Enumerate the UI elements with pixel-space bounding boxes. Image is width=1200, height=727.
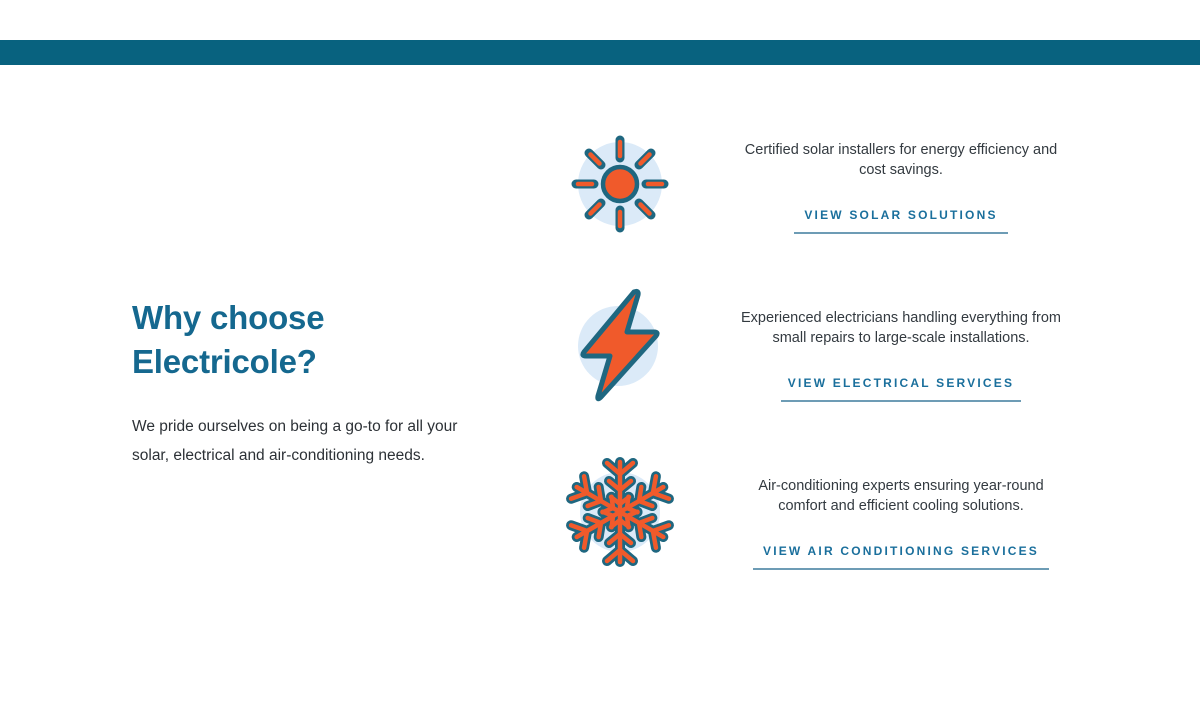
- link-underline: [781, 400, 1021, 402]
- view-solar-solutions-link[interactable]: VIEW SOLAR SOLUTIONS: [804, 208, 997, 222]
- intro-column: Why choose Electricole? We pride ourselv…: [132, 296, 512, 470]
- link-underline: [753, 568, 1049, 570]
- feature-link-group: VIEW SOLAR SOLUTIONS: [702, 208, 1100, 234]
- feature-item-electrical: Experienced electricians handling everyt…: [560, 280, 1100, 448]
- feature-body-electrical: Experienced electricians handling everyt…: [702, 280, 1100, 402]
- view-electrical-services-link[interactable]: VIEW ELECTRICAL SERVICES: [788, 376, 1014, 390]
- feature-item-solar: Certified solar installers for energy ef…: [560, 120, 1100, 280]
- feature-body-solar: Certified solar installers for energy ef…: [702, 120, 1100, 234]
- sun-icon: [560, 120, 680, 248]
- feature-link-group: VIEW ELECTRICAL SERVICES: [702, 376, 1100, 402]
- page-root: Why choose Electricole? We pride ourselv…: [0, 0, 1200, 727]
- snowflake-icon: [560, 448, 680, 576]
- feature-description: Experienced electricians handling everyt…: [736, 308, 1066, 348]
- feature-description: Air-conditioning experts ensuring year-r…: [736, 476, 1066, 516]
- top-accent-bar: [0, 40, 1200, 65]
- feature-description: Certified solar installers for energy ef…: [736, 140, 1066, 180]
- lightning-bolt-icon: [560, 280, 680, 408]
- feature-item-air-conditioning: Air-conditioning experts ensuring year-r…: [560, 448, 1100, 616]
- link-underline: [794, 232, 1008, 234]
- page-title: Why choose Electricole?: [132, 296, 372, 384]
- feature-body-air-conditioning: Air-conditioning experts ensuring year-r…: [702, 448, 1100, 570]
- intro-paragraph: We pride ourselves on being a go-to for …: [132, 412, 492, 470]
- feature-link-group: VIEW AIR CONDITIONING SERVICES: [702, 544, 1100, 570]
- feature-list: Certified solar installers for energy ef…: [560, 120, 1100, 616]
- view-air-conditioning-services-link[interactable]: VIEW AIR CONDITIONING SERVICES: [763, 544, 1039, 558]
